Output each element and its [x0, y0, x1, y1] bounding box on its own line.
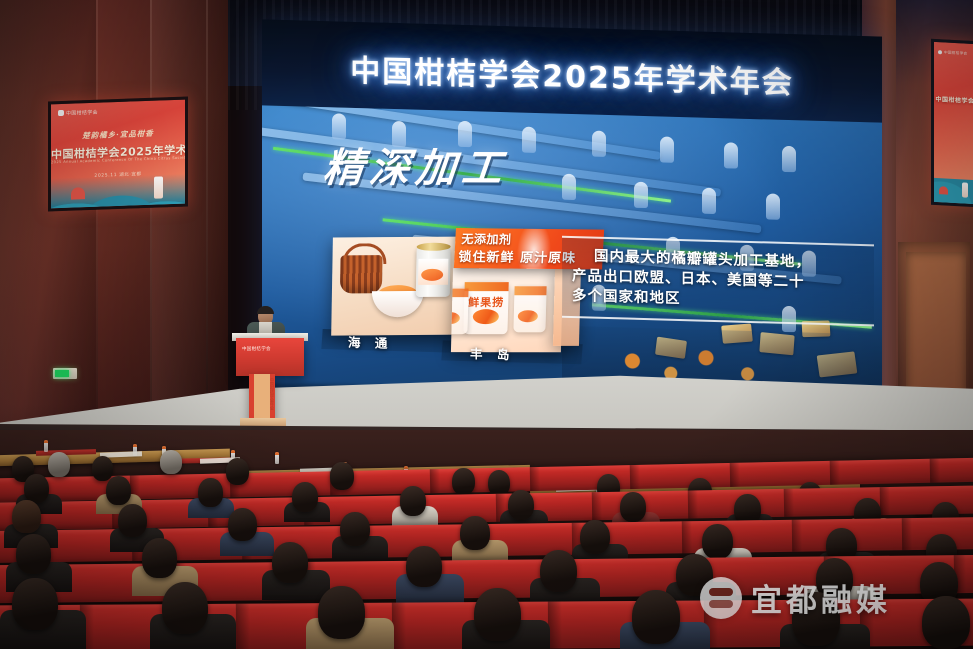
led-screen-content: 精深加工 鲜果捞 — [262, 105, 882, 408]
side-banner-screen-right: 中国柑桔学会 中国柑桔学会 — [931, 39, 973, 208]
audience-head — [12, 578, 58, 630]
audience-head — [16, 534, 51, 574]
audience-head — [12, 500, 41, 533]
promo-line-1: 无添加剂 — [461, 230, 512, 247]
citrus-society-mark-icon-right — [938, 50, 942, 54]
audience-head — [48, 452, 70, 477]
main-led-screen: 中国柑桔学会2025年学术年会 — [262, 19, 882, 408]
tower-icon-right — [939, 186, 948, 194]
promo-line-2: 锁住新鲜 原汁原味 — [458, 246, 577, 266]
podium-column: 中国柑桔学会年会 — [249, 374, 275, 422]
speaker-hair — [257, 306, 274, 314]
screenshot-root: 中国柑桔学会2025年学术年会 — [0, 0, 973, 649]
product-photo-haitong — [331, 237, 461, 336]
podium-vertical-text: 中国柑桔学会年会 — [249, 378, 275, 410]
side-banner-left-skyline — [51, 174, 185, 209]
tower-icon — [71, 187, 85, 199]
side-banner-right-title: 中国柑桔学会 — [934, 94, 973, 105]
product-cup-label: 鲜果捞 — [464, 294, 508, 310]
conference-title: 中国柑桔学会2025年学术年会 — [262, 43, 882, 104]
product-photo-fengdao: 鲜果捞 — [451, 268, 563, 352]
product-label-haitong: 海 通 — [348, 332, 392, 352]
side-banner-right-skyline — [934, 178, 973, 204]
citrus-society-mark-icon — [58, 110, 64, 116]
watermark: 宜都融媒 — [700, 575, 891, 620]
pagoda-icon-right — [962, 182, 968, 197]
side-banner-right-logo: 中国柑桔学会 — [938, 50, 967, 57]
podium-base — [240, 418, 286, 426]
screen-info-block: 国内最大的橘瓣罐头加工基地， 产品出口欧盟、日本、美国等二十 多个国家和地区 — [562, 236, 874, 327]
exit-sign — [53, 368, 77, 379]
podium-front-panel: 中国柑桔学会 — [236, 338, 304, 376]
side-banner-screen-left: 中国柑桔学会 楚韵橘乡·宜品柑香 中国柑桔学会2025年学术年会 2025 An… — [48, 97, 188, 212]
pagoda-icon — [154, 176, 163, 198]
podium-logo: 中国柑桔学会 — [242, 346, 271, 352]
side-banner-left-slogan: 楚韵橘乡·宜品柑香 — [51, 127, 185, 143]
watermark-text: 宜都融媒 — [751, 575, 891, 620]
exit-sign-glyph — [55, 370, 69, 377]
watermark-logo-icon — [700, 577, 742, 619]
side-banner-left-logo: 中国柑桔学会 — [58, 109, 98, 117]
screen-headline: 精深加工 — [321, 136, 511, 194]
product-label-fengdao: 丰 岛 — [470, 343, 514, 363]
audience-head — [24, 474, 49, 503]
